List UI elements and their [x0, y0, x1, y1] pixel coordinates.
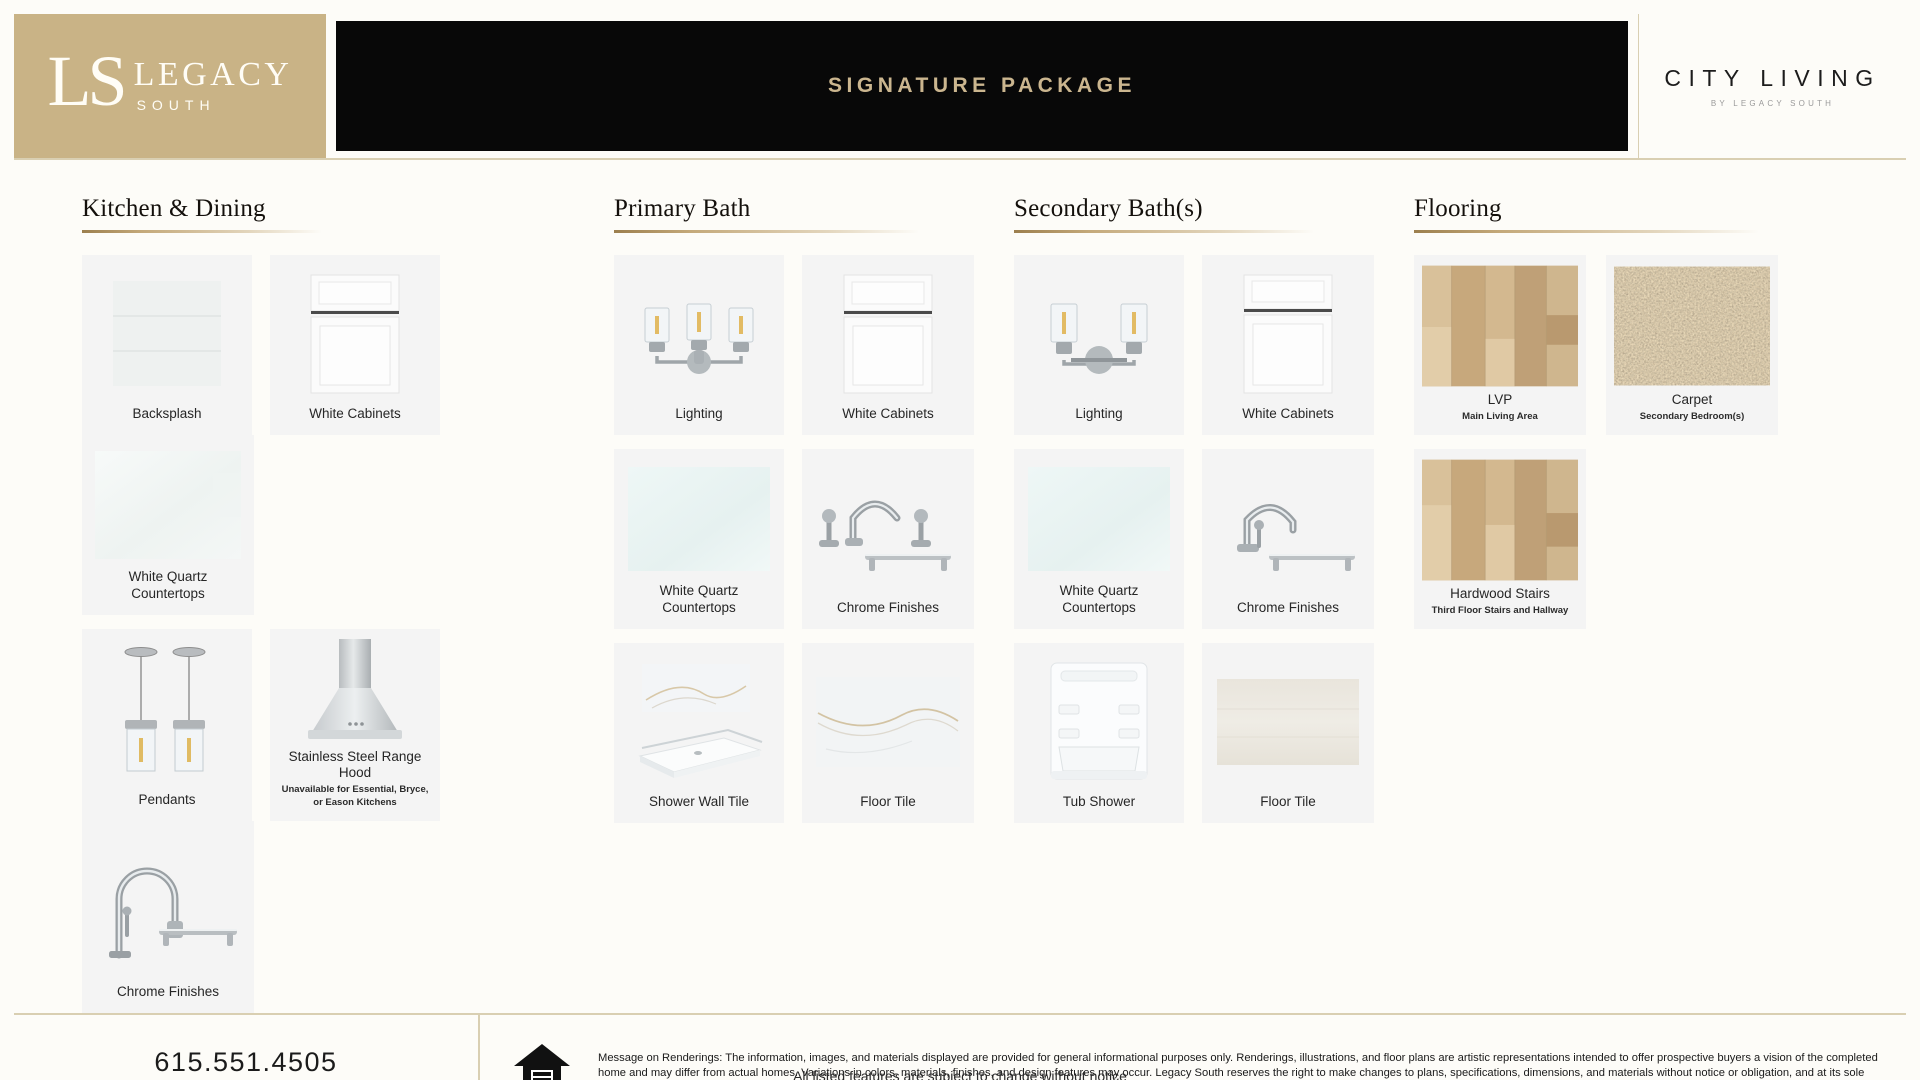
- card-label: White Quartz Countertops: [90, 569, 246, 603]
- card-white-quartz-countertops-kitchen[interactable]: White Quartz Countertops: [82, 435, 254, 615]
- city-living-title: CITY LIVING: [1664, 65, 1880, 92]
- card-label: Lighting: [675, 406, 722, 423]
- card-sublabel: Third Floor Stairs and Hallway: [1432, 605, 1569, 617]
- legacy-south-logo: LS LEGACY SOUTH: [14, 14, 326, 158]
- card-label: White Cabinets: [309, 406, 401, 423]
- primary-grid-row3: Shower Wall Tile Floor Tile: [614, 643, 1014, 823]
- change-notice: All listed features are subject to chang…: [0, 1068, 1920, 1080]
- section-underline: [1414, 230, 1759, 233]
- card-label: Floor Tile: [860, 794, 916, 811]
- shower-pan-tile-icon: [622, 653, 776, 790]
- beige-floor-tile-icon: [1210, 653, 1366, 790]
- card-chrome-finishes-primary[interactable]: Chrome Finishes: [802, 449, 974, 629]
- section-title: Flooring: [1414, 196, 1834, 221]
- signature-package-page: LS LEGACY SOUTH SIGNATURE PACKAGE CITY L…: [0, 0, 1920, 1080]
- card-label: White Cabinets: [1242, 406, 1334, 423]
- card-carpet[interactable]: Carpet Secondary Bedroom(s): [1606, 255, 1778, 435]
- cabinet-door-icon: [810, 265, 966, 402]
- card-label: Hardwood Stairs: [1450, 586, 1550, 603]
- card-label: Carpet: [1672, 392, 1713, 409]
- pendant-lights-icon: [90, 639, 244, 788]
- card-label: Stainless Steel Range Hood: [278, 749, 432, 783]
- card-label: Chrome Finishes: [1237, 600, 1339, 617]
- card-white-cabinets-primary[interactable]: White Cabinets: [802, 255, 974, 435]
- city-living-logo: CITY LIVING BY LEGACY SOUTH: [1638, 14, 1906, 158]
- chrome-widespread-faucet-icon: [810, 459, 966, 596]
- banner-title: SIGNATURE PACKAGE: [828, 74, 1136, 98]
- card-label: White Quartz Countertops: [1022, 583, 1176, 617]
- card-pendants[interactable]: Pendants: [82, 629, 252, 821]
- tub-shower-icon: [1022, 653, 1176, 790]
- flooring-grid-row2: Hardwood Stairs Third Floor Stairs and H…: [1414, 449, 1834, 629]
- card-lvp[interactable]: LVP Main Living Area: [1414, 255, 1586, 435]
- brand-subname: SOUTH: [137, 97, 216, 113]
- card-label: Lighting: [1075, 406, 1122, 423]
- card-white-cabinets-kitchen[interactable]: White Cabinets: [270, 255, 440, 435]
- card-sublabel: Main Living Area: [1462, 411, 1538, 423]
- card-label: Backsplash: [132, 406, 201, 423]
- card-floor-tile-primary[interactable]: Floor Tile: [802, 643, 974, 823]
- card-hardwood-stairs[interactable]: Hardwood Stairs Third Floor Stairs and H…: [1414, 449, 1586, 629]
- card-backsplash[interactable]: Backsplash: [82, 255, 252, 435]
- signature-package-banner: SIGNATURE PACKAGE: [336, 21, 1628, 151]
- backsplash-tile-icon: [90, 265, 244, 402]
- kitchen-grid-row1: Backsplash White Cabinets: [82, 255, 614, 615]
- card-tub-shower[interactable]: Tub Shower: [1014, 643, 1184, 823]
- quartz-slab-icon: [1022, 459, 1176, 579]
- secondary-grid-row1: Lighting White Cabinets: [1014, 255, 1414, 435]
- section-title: Kitchen & Dining: [82, 196, 614, 221]
- page-header: LS LEGACY SOUTH SIGNATURE PACKAGE CITY L…: [0, 0, 1920, 158]
- ls-monogram-icon: LS: [48, 51, 124, 112]
- card-white-quartz-countertops-primary[interactable]: White Quartz Countertops: [614, 449, 784, 629]
- section-flooring: Flooring: [1414, 196, 1834, 1013]
- kitchen-grid-row2: Pendants: [82, 629, 614, 1013]
- card-label: Pendants: [138, 792, 195, 809]
- section-title: Secondary Bath(s): [1014, 196, 1414, 221]
- city-living-subtitle: BY LEGACY SOUTH: [1711, 99, 1834, 108]
- marble-floor-tile-icon: [810, 653, 966, 790]
- card-lighting-secondary[interactable]: Lighting: [1014, 255, 1184, 435]
- section-underline: [614, 230, 919, 233]
- quartz-slab-icon: [622, 459, 776, 579]
- package-sections: Kitchen & Dining Backsplash: [0, 160, 1920, 1013]
- card-white-quartz-countertops-secondary[interactable]: White Quartz Countertops: [1014, 449, 1184, 629]
- chrome-faucet-pull-icon: [90, 831, 246, 980]
- card-label: LVP: [1488, 392, 1513, 409]
- section-secondary-bath: Secondary Bath(s): [1014, 196, 1414, 1013]
- banner-wrapper: SIGNATURE PACKAGE: [326, 14, 1638, 158]
- vanity-light-2-icon: [1022, 265, 1176, 402]
- flooring-grid-row1: LVP Main Living Area: [1414, 255, 1834, 435]
- card-sublabel: Secondary Bedroom(s): [1640, 411, 1745, 423]
- range-hood-icon: [278, 639, 432, 745]
- card-chrome-finishes-kitchen[interactable]: Chrome Finishes: [82, 821, 254, 1013]
- card-label: White Quartz Countertops: [622, 583, 776, 617]
- card-label: Chrome Finishes: [117, 984, 219, 1001]
- chrome-faucet-pull-icon: [1210, 459, 1366, 596]
- card-label: Chrome Finishes: [837, 600, 939, 617]
- card-white-cabinets-secondary[interactable]: White Cabinets: [1202, 255, 1374, 435]
- primary-grid-row2: White Quartz Countertops: [614, 449, 1014, 629]
- card-chrome-finishes-secondary[interactable]: Chrome Finishes: [1202, 449, 1374, 629]
- card-label: Floor Tile: [1260, 794, 1316, 811]
- card-label: White Cabinets: [842, 406, 934, 423]
- section-title: Primary Bath: [614, 196, 1014, 221]
- card-lighting-primary[interactable]: Lighting: [614, 255, 784, 435]
- card-sublabel: Unavailable for Essential, Bryce, or Eas…: [278, 784, 432, 809]
- section-underline: [82, 230, 322, 233]
- secondary-grid-row3: Tub Shower Floor Tile: [1014, 643, 1414, 823]
- brand-name: LEGACY: [134, 58, 293, 92]
- card-range-hood[interactable]: Stainless Steel Range Hood Unavailable f…: [270, 629, 440, 821]
- primary-grid-row1: Lighting White Cabinets: [614, 255, 1014, 435]
- card-shower-wall-tile[interactable]: Shower Wall Tile: [614, 643, 784, 823]
- cabinet-door-icon: [1210, 265, 1366, 402]
- secondary-grid-row2: White Quartz Countertops: [1014, 449, 1414, 629]
- lvp-plank-icon: [1422, 265, 1578, 388]
- carpet-swatch-icon: [1614, 265, 1770, 388]
- section-kitchen-dining: Kitchen & Dining Backsplash: [14, 196, 614, 1013]
- card-label: Shower Wall Tile: [649, 794, 749, 811]
- section-primary-bath: Primary Bath: [614, 196, 1014, 1013]
- section-underline: [1014, 230, 1314, 233]
- quartz-slab-icon: [90, 445, 246, 565]
- card-label: Tub Shower: [1063, 794, 1135, 811]
- hardwood-plank-icon: [1422, 459, 1578, 582]
- card-floor-tile-secondary[interactable]: Floor Tile: [1202, 643, 1374, 823]
- vanity-light-3-icon: [622, 265, 776, 402]
- cabinet-door-icon: [278, 265, 432, 402]
